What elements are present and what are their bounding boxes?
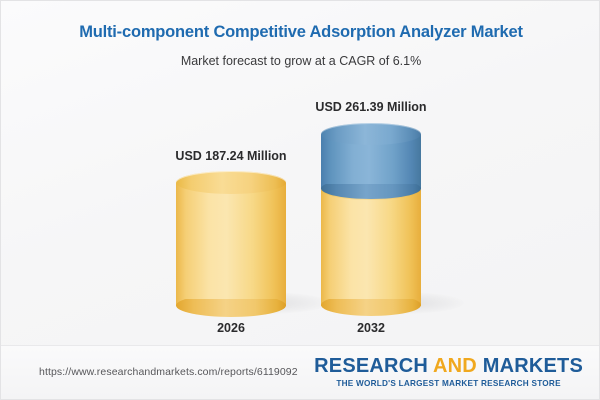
category-label-2026: 2026 (176, 321, 286, 335)
chart-canvas: Multi-component Competitive Adsorption A… (0, 0, 600, 400)
segment-top-cap (321, 123, 421, 145)
logo-tagline: THE WORLD'S LARGEST MARKET RESEARCH STOR… (314, 379, 583, 388)
cylinder-segment-growth-2032 (321, 123, 421, 199)
cylinder-2026[interactable] (176, 171, 286, 306)
segment-body-front (176, 182, 286, 299)
logo-wordmark: RESEARCH AND MARKETS (314, 356, 583, 377)
cylinder-segment-base-2032 (321, 189, 421, 306)
plot-area: USD 187.24 Million USD 261.39 Million (1, 1, 600, 346)
cylinder-segment-base-2026 (176, 171, 286, 306)
logo-word-markets: MARKETS (483, 355, 583, 377)
report-url[interactable]: https://www.researchandmarkets.com/repor… (39, 366, 298, 378)
research-and-markets-logo[interactable]: RESEARCH AND MARKETS THE WORLD'S LARGEST… (314, 356, 583, 388)
value-label-2026: USD 187.24 Million (121, 149, 341, 163)
cylinder-2032[interactable] (321, 123, 421, 306)
footer: https://www.researchandmarkets.com/repor… (1, 345, 600, 399)
segment-top-cap (176, 171, 286, 194)
logo-word-research: RESEARCH (314, 355, 428, 377)
segment-body-front (321, 189, 421, 299)
category-label-2032: 2032 (321, 321, 421, 335)
logo-word-and: AND (433, 355, 477, 377)
value-label-2032: USD 261.39 Million (261, 100, 481, 114)
